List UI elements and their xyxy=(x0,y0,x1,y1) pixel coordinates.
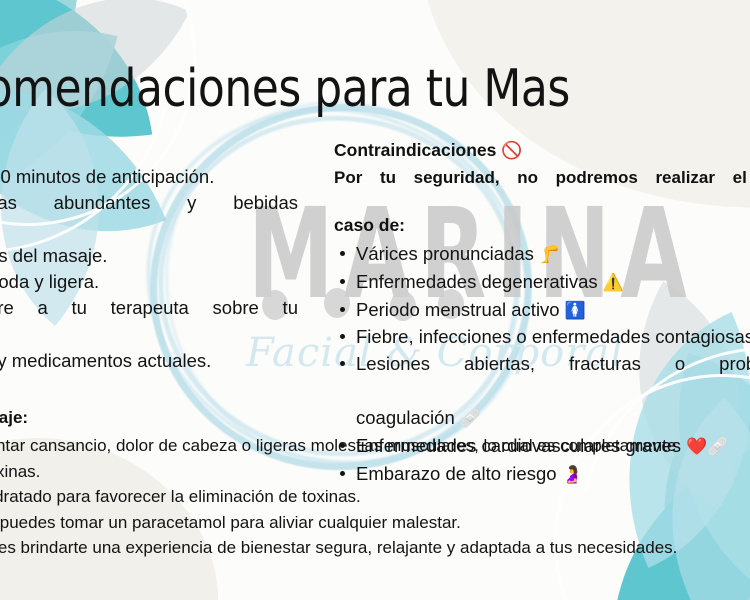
warning-icon: ⚠️ xyxy=(603,273,624,293)
left-column-line-1: on 5-10 minutos de anticipación. xyxy=(0,164,298,190)
left-column-line-3: s antes del masaje. xyxy=(0,243,298,269)
left-column-line-5: siempre a tu terapeuta sobre tu xyxy=(0,295,298,348)
bottom-section: tu masaje: perimentar cansancio, dolor d… xyxy=(0,408,750,561)
contraindications-lead-second: caso de: xyxy=(334,215,750,236)
contraindications-heading-label: Contraindicaciones xyxy=(334,140,496,160)
contraindications-heading: Contraindicaciones 🚫 xyxy=(334,140,750,161)
bottom-section-line-2: n de toxinas. xyxy=(0,459,750,485)
bottom-section-line-3: bien hidratado para favorecer la elimina… xyxy=(0,484,750,510)
left-column-line-2: comidas abundantes y bebidas xyxy=(0,190,298,243)
page-title: comendaciones para tu Mas xyxy=(0,59,750,119)
contraindications-lead: Por tu seguridad, no podremos realizar e… xyxy=(334,166,750,213)
bottom-section-line-1: perimentar cansancio, dolor de cabeza o … xyxy=(0,433,750,459)
left-column: u cita: on 5-10 minutos de anticipación.… xyxy=(0,140,298,374)
bottom-section-line-4: esario, puedes tomar un paracetamol para… xyxy=(0,510,750,536)
list-item-label: Várices pronunciadas xyxy=(356,243,534,264)
left-column-heading: u cita: xyxy=(0,140,298,160)
list-item: Enfermedades degenerativas ⚠️ xyxy=(334,268,750,296)
list-item-label: Enfermedades degenerativas xyxy=(356,271,598,292)
list-item-label: Periodo menstrual activo xyxy=(356,299,560,320)
bottom-section-line-5: ojetivo es brindarte una experiencia de … xyxy=(0,535,750,561)
list-item-label: Fiebre, infecciones o enfermedades conta… xyxy=(356,326,750,347)
list-item: Várices pronunciadas 🦵 xyxy=(334,240,750,268)
list-item: Periodo menstrual activo 🚺 xyxy=(334,296,750,324)
no-entry-icon: 🚫 xyxy=(501,141,522,161)
bottom-section-heading: tu masaje: xyxy=(0,408,750,428)
poster-canvas: MARINA Facial & Corporal comendaciones p… xyxy=(0,0,750,600)
left-column-line-4: a cómoda y ligera. xyxy=(0,269,298,295)
left-column-line-6: salud y medicamentos actuales. xyxy=(0,348,298,374)
list-item-label: Lesiones abiertas, fracturas o problem xyxy=(356,353,750,401)
leg-icon: 🦵 xyxy=(539,245,560,265)
list-item: Fiebre, infecciones o enfermedades conta… xyxy=(334,323,750,350)
womens-room-icon: 🚺 xyxy=(565,301,586,321)
